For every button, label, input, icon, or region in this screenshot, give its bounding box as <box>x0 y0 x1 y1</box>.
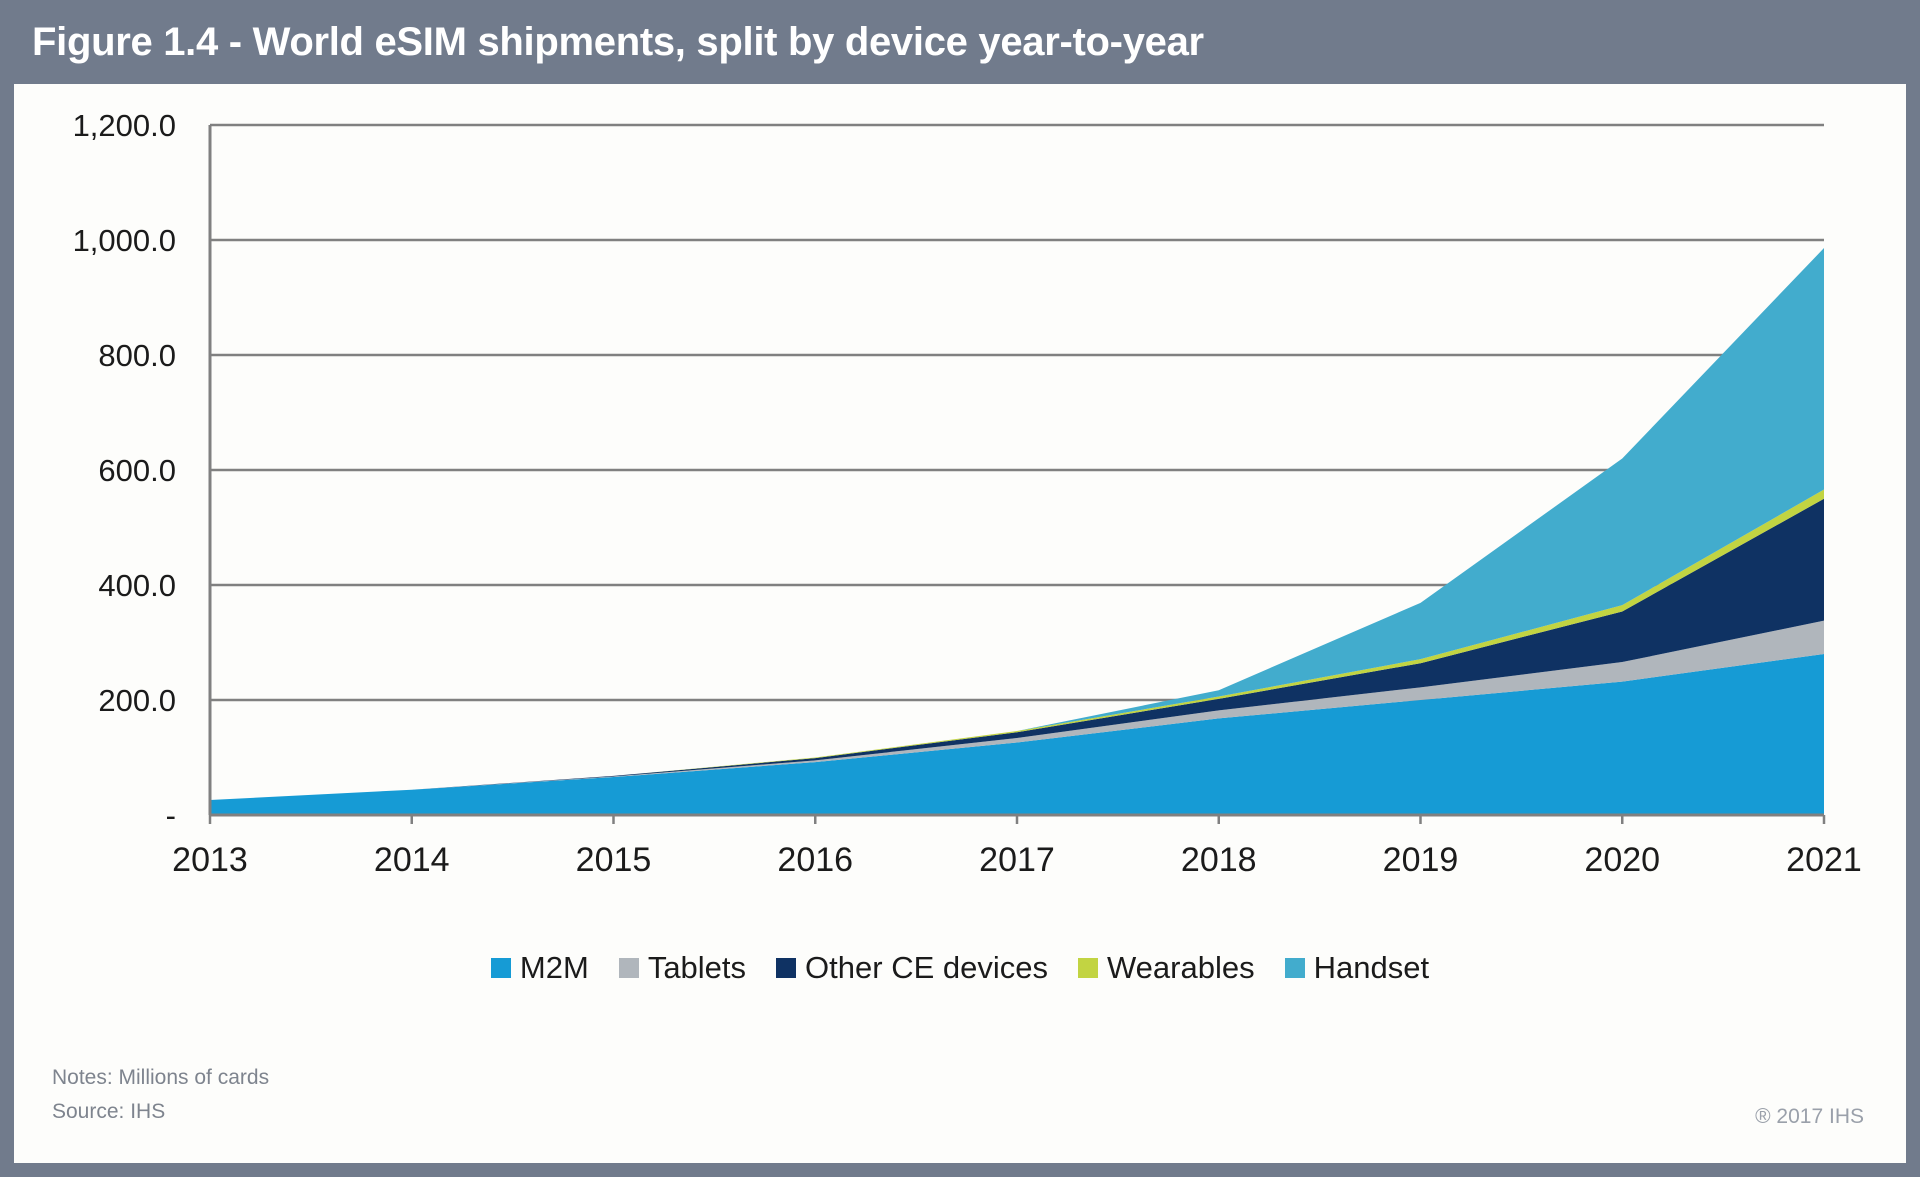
copyright-line: ® 2017 IHS <box>1755 1105 1864 1129</box>
page-title: Figure 1.4 - World eSIM shipments, split… <box>0 20 1204 65</box>
notes-line: Notes: Millions of cards <box>52 1061 1052 1095</box>
x-tick-label: 2013 <box>172 841 248 879</box>
y-tick-label: 600.0 <box>98 453 176 488</box>
legend-label: Handset <box>1314 950 1429 986</box>
x-tick-label: 2017 <box>979 841 1055 879</box>
y-tick-label: - <box>166 798 176 833</box>
legend-label: M2M <box>520 950 589 986</box>
x-tick-label: 2016 <box>777 841 853 879</box>
y-tick-label: 1,200.0 <box>73 108 176 143</box>
legend-swatch-icon <box>1285 958 1305 978</box>
x-tick-label: 2014 <box>374 841 450 879</box>
y-tick-label: 1,000.0 <box>73 223 176 258</box>
chart-legend: M2MTabletsOther CE devicesWearablesHands… <box>14 950 1906 986</box>
legend-swatch-icon <box>1078 958 1098 978</box>
legend-label: Wearables <box>1107 950 1255 986</box>
y-tick-label: 800.0 <box>98 338 176 373</box>
x-tick-label: 2021 <box>1786 841 1862 879</box>
stacked-area-chart: -200.0400.0600.0800.01,000.01,200.0 2013… <box>14 84 1906 944</box>
legend-swatch-icon <box>619 958 639 978</box>
figure-notes: Notes: Millions of cards Source: IHS <box>52 1061 1052 1129</box>
x-tick-label: 2015 <box>576 841 652 879</box>
figure-frame: Figure 1.4 - World eSIM shipments, split… <box>0 0 1920 1177</box>
x-axis-tick-labels: 201320142015201620172018201920202021 <box>172 841 1862 879</box>
figure-title-bar: Figure 1.4 - World eSIM shipments, split… <box>0 0 1920 84</box>
legend-item-other-ce-devices[interactable]: Other CE devices <box>776 950 1048 986</box>
y-axis-tick-labels: -200.0400.0600.0800.01,000.01,200.0 <box>73 108 176 833</box>
chart-panel: -200.0400.0600.0800.01,000.01,200.0 2013… <box>14 84 1906 1163</box>
area-series-group <box>210 248 1824 815</box>
legend-swatch-icon <box>776 958 796 978</box>
x-tick-label: 2020 <box>1584 841 1660 879</box>
source-line: Source: IHS <box>52 1095 1052 1129</box>
legend-swatch-icon <box>491 958 511 978</box>
legend-label: Other CE devices <box>805 950 1048 986</box>
legend-item-wearables[interactable]: Wearables <box>1078 950 1255 986</box>
legend-item-handset[interactable]: Handset <box>1285 950 1429 986</box>
x-tick-label: 2019 <box>1383 841 1459 879</box>
legend-label: Tablets <box>648 950 746 986</box>
x-tick-label: 2018 <box>1181 841 1257 879</box>
legend-item-m2m[interactable]: M2M <box>491 950 589 986</box>
y-tick-label: 200.0 <box>98 683 176 718</box>
figure-page: Figure 1.4 - World eSIM shipments, split… <box>0 0 1920 1177</box>
legend-item-tablets[interactable]: Tablets <box>619 950 746 986</box>
y-tick-label: 400.0 <box>98 568 176 603</box>
